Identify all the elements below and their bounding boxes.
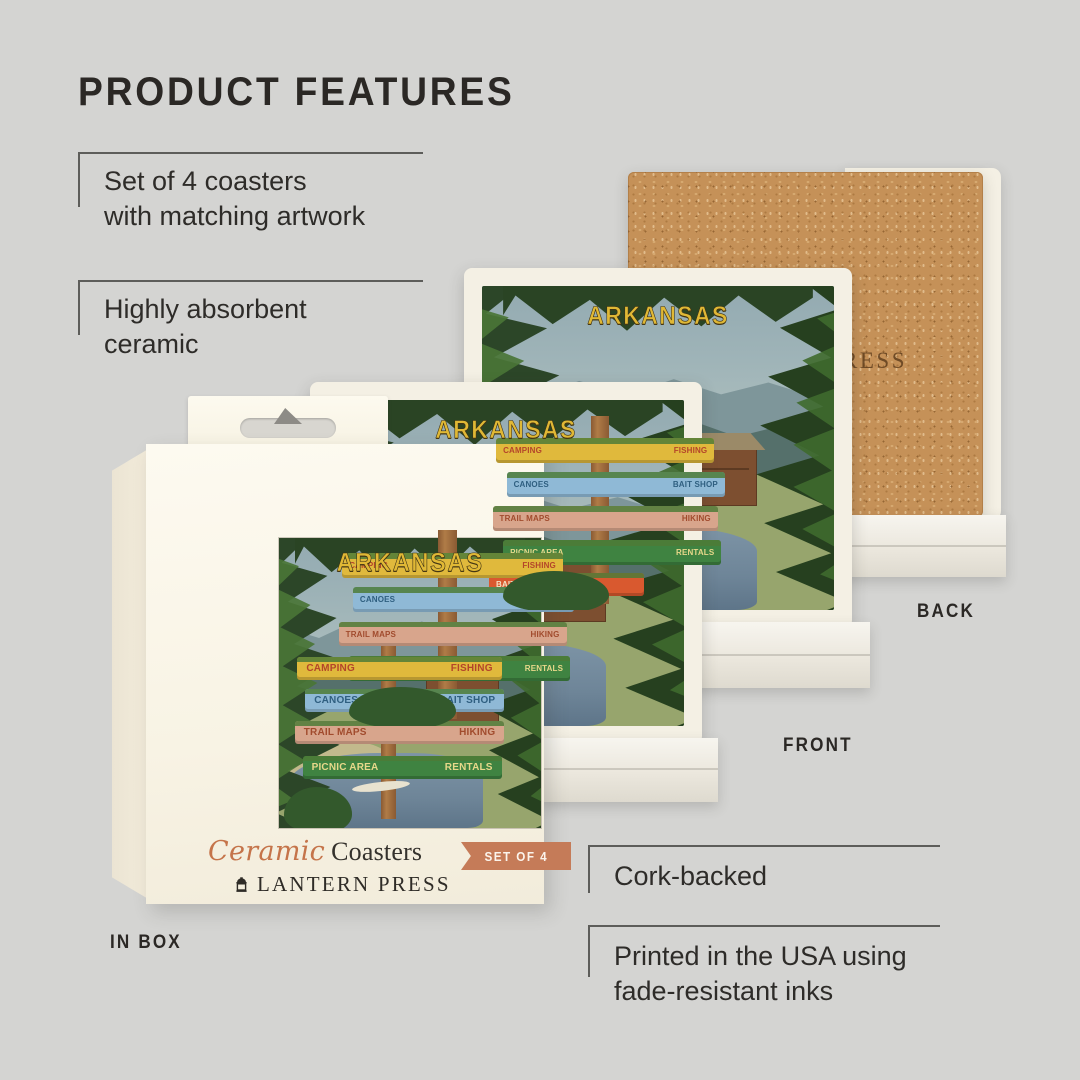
sign-label-left: TRAIL MAPS: [500, 514, 550, 523]
feature-rule-left: [588, 925, 590, 977]
box-label-area: CeramicCoasters LANTERN PRESS SET OF 4: [146, 836, 544, 904]
sign-trailmaps-hiking: TRAIL MAPS HIKING: [339, 622, 567, 647]
sign-label-right: HIKING: [531, 630, 560, 639]
feature-text: Cork-backed: [614, 859, 767, 894]
ribbon-label: SET OF 4: [484, 849, 548, 864]
feature-text: Set of 4 coasters with matching artwork: [104, 164, 365, 234]
sign-moss: [303, 756, 502, 761]
feature-rule-top: [588, 845, 940, 847]
sign-label-left: CAMPING: [306, 663, 355, 674]
sign-label-left: CANOES: [514, 480, 549, 489]
sign-label-right: RENTALS: [445, 762, 493, 773]
artwork-state-title: ARKANSAS: [342, 416, 670, 445]
brand-serif-word: Coasters: [331, 837, 422, 866]
sign-moss: [493, 506, 718, 511]
sign-camping-fishing: CAMPING FISHING: [297, 657, 501, 680]
sign-label-right: FISHING: [451, 663, 493, 674]
hang-tab-slot: [240, 418, 336, 438]
sign-moss: [297, 657, 501, 662]
lantern-press-wordmark: LANTERN PRESS: [257, 872, 451, 897]
sign-canoes-baitshop: CANOES BAIT SHOP: [507, 472, 725, 497]
artwork-state-title: ARKANSAS: [496, 302, 820, 331]
feature-item-set-of-4: Set of 4 coasters with matching artwork: [78, 152, 423, 262]
sign-label-right: HIKING: [459, 727, 495, 738]
sign-label-left: TRAIL MAPS: [346, 630, 396, 639]
box-side-panel: [112, 448, 150, 900]
feature-item-printed-usa: Printed in the USA using fade-resistant …: [588, 925, 940, 1045]
brand-script-word: Ceramic: [208, 836, 325, 867]
display-block-front: [694, 622, 870, 688]
feature-rule-left: [78, 280, 80, 335]
sign-label-right: BAIT SHOP: [673, 480, 718, 489]
sign-moss: [339, 622, 567, 627]
sign-label-right: FISHING: [674, 446, 708, 455]
box-front-panel: CAMPING FISHING CANOES BAIT SHOP TRAIL M…: [146, 444, 544, 904]
display-block-middle: [540, 738, 718, 802]
block-seam: [694, 654, 870, 656]
sign-label-left: CANOES: [360, 595, 395, 604]
sign-moss: [507, 472, 725, 477]
artwork-state-title: ARKANSAS: [289, 547, 530, 578]
sign-label-right: RENTALS: [676, 548, 714, 557]
feature-item-cork-backed: Cork-backed: [588, 845, 940, 915]
sign-moss: [503, 540, 721, 545]
caption-back: BACK: [917, 601, 975, 623]
sign-label-left: PICNIC AREA: [312, 762, 379, 773]
sign-trailmaps-hiking: TRAIL MAPS HIKING: [493, 506, 718, 531]
box-brand-line: CeramicCoasters: [208, 836, 422, 867]
caption-front: FRONT: [783, 735, 853, 757]
page-title: PRODUCT FEATURES: [78, 70, 515, 115]
sign-label-right: HIKING: [682, 514, 711, 523]
feature-rule-top: [78, 152, 423, 154]
block-seam: [540, 768, 718, 770]
sign-label-right: RENTALS: [525, 664, 563, 673]
lantern-press-logo: LANTERN PRESS: [234, 872, 451, 897]
feature-rule-left: [588, 845, 590, 893]
feature-item-absorbent: Highly absorbent ceramic: [78, 280, 423, 390]
sign-label-left: CAMPING: [503, 446, 542, 455]
product-feature-graphic: PRODUCT FEATURES Set of 4 coasters with …: [0, 0, 1080, 1080]
feature-text: Printed in the USA using fade-resistant …: [614, 939, 907, 1009]
sign-label-left: TRAIL MAPS: [304, 727, 367, 738]
feature-rule-top: [78, 280, 423, 282]
sign-picnic-rentals: PICNIC AREA RENTALS: [303, 756, 502, 779]
set-of-4-ribbon: SET OF 4: [461, 842, 571, 870]
caption-in-box: IN BOX: [110, 932, 182, 954]
lantern-icon: [234, 876, 249, 893]
feature-text: Highly absorbent ceramic: [104, 292, 307, 362]
feature-rule-left: [78, 152, 80, 207]
block-seam: [836, 545, 1006, 547]
feature-rule-top: [588, 925, 940, 927]
display-block-back: [836, 515, 1006, 577]
